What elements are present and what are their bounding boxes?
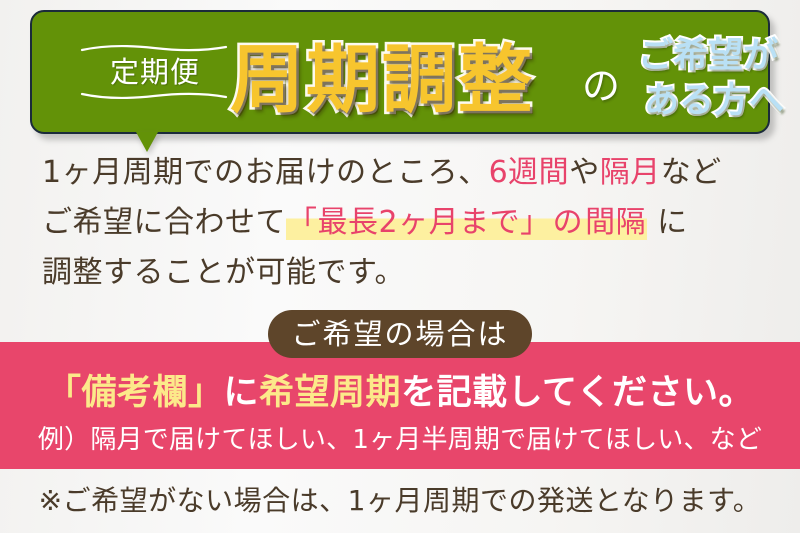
- body-line2-highlight-maxperiod: 「最長2ヶ月まで」: [286, 205, 552, 240]
- callout-band: 「備考欄」に希望周期を記載してください。 例）隔月で届けてほしい、1ヶ月半周期で…: [0, 342, 800, 469]
- body-line2-highlight-interval: 間隔: [584, 205, 647, 240]
- footer-note: ※ご希望がない場合は、1ヶ月周期での発送となります。: [0, 481, 800, 521]
- body-line2-part-a: ご希望に合わせて: [42, 205, 286, 240]
- body-line-1: 1ヶ月周期でのお届けのところ、6週間や隔月など: [42, 148, 772, 198]
- callout-remarks-field: 「備考欄」: [46, 373, 224, 413]
- header-title-particle: の: [582, 60, 620, 112]
- callout-main-text: 「備考欄」に希望周期を記載してください。: [0, 370, 800, 416]
- header-subtitle-group: ご希望が ある方へ: [638, 34, 800, 124]
- body-line-2: ご希望に合わせて「最長2ヶ月まで」の間隔 に: [42, 198, 772, 248]
- callout-main-part-b: に: [224, 373, 260, 413]
- body-line1-part-a: 1ヶ月周期でのお届けのところ、: [42, 155, 489, 190]
- body-line1-highlight-weeks: 6週間: [489, 155, 570, 190]
- header-subtitle-line1: ご希望が: [638, 34, 800, 79]
- wave-rule-bottom-icon: [80, 91, 228, 100]
- callout-desired-cycle: 希望周期: [259, 373, 401, 413]
- body-line2-part-e: に: [647, 205, 688, 240]
- header-subtitle-line2: ある方へ: [644, 79, 800, 124]
- body-line-3: 調整することが可能です。: [42, 248, 772, 298]
- promo-banner: 定期便 周期調整 の ご希望が ある方へ 1ヶ月周期でのお届けのところ、6週間や…: [0, 0, 800, 533]
- subscription-label-group: 定期便: [80, 44, 230, 100]
- wave-rule-top-icon: [80, 44, 228, 53]
- body-line1-highlight-bimonthly: 隔月: [600, 155, 661, 190]
- body-line2-part-c: の: [552, 205, 585, 240]
- body-line1-part-e: など: [661, 155, 722, 190]
- request-case-badge: ご希望の場合は: [268, 310, 532, 358]
- header-title: 周期調整: [230, 29, 534, 131]
- body-paragraph: 1ヶ月周期でのお届けのところ、6週間や隔月など ご希望に合わせて「最長2ヶ月まで…: [42, 148, 772, 298]
- callout-example-text: 例）隔月で届けてほしい、1ヶ月半周期で届けてほしい、など: [0, 422, 800, 458]
- subscription-label: 定期便: [80, 53, 230, 91]
- body-line1-part-c: や: [569, 155, 600, 190]
- callout-main-part-d: を記載してください。: [401, 373, 754, 413]
- header-speech-box: 定期便 周期調整 の ご希望が ある方へ: [30, 10, 770, 134]
